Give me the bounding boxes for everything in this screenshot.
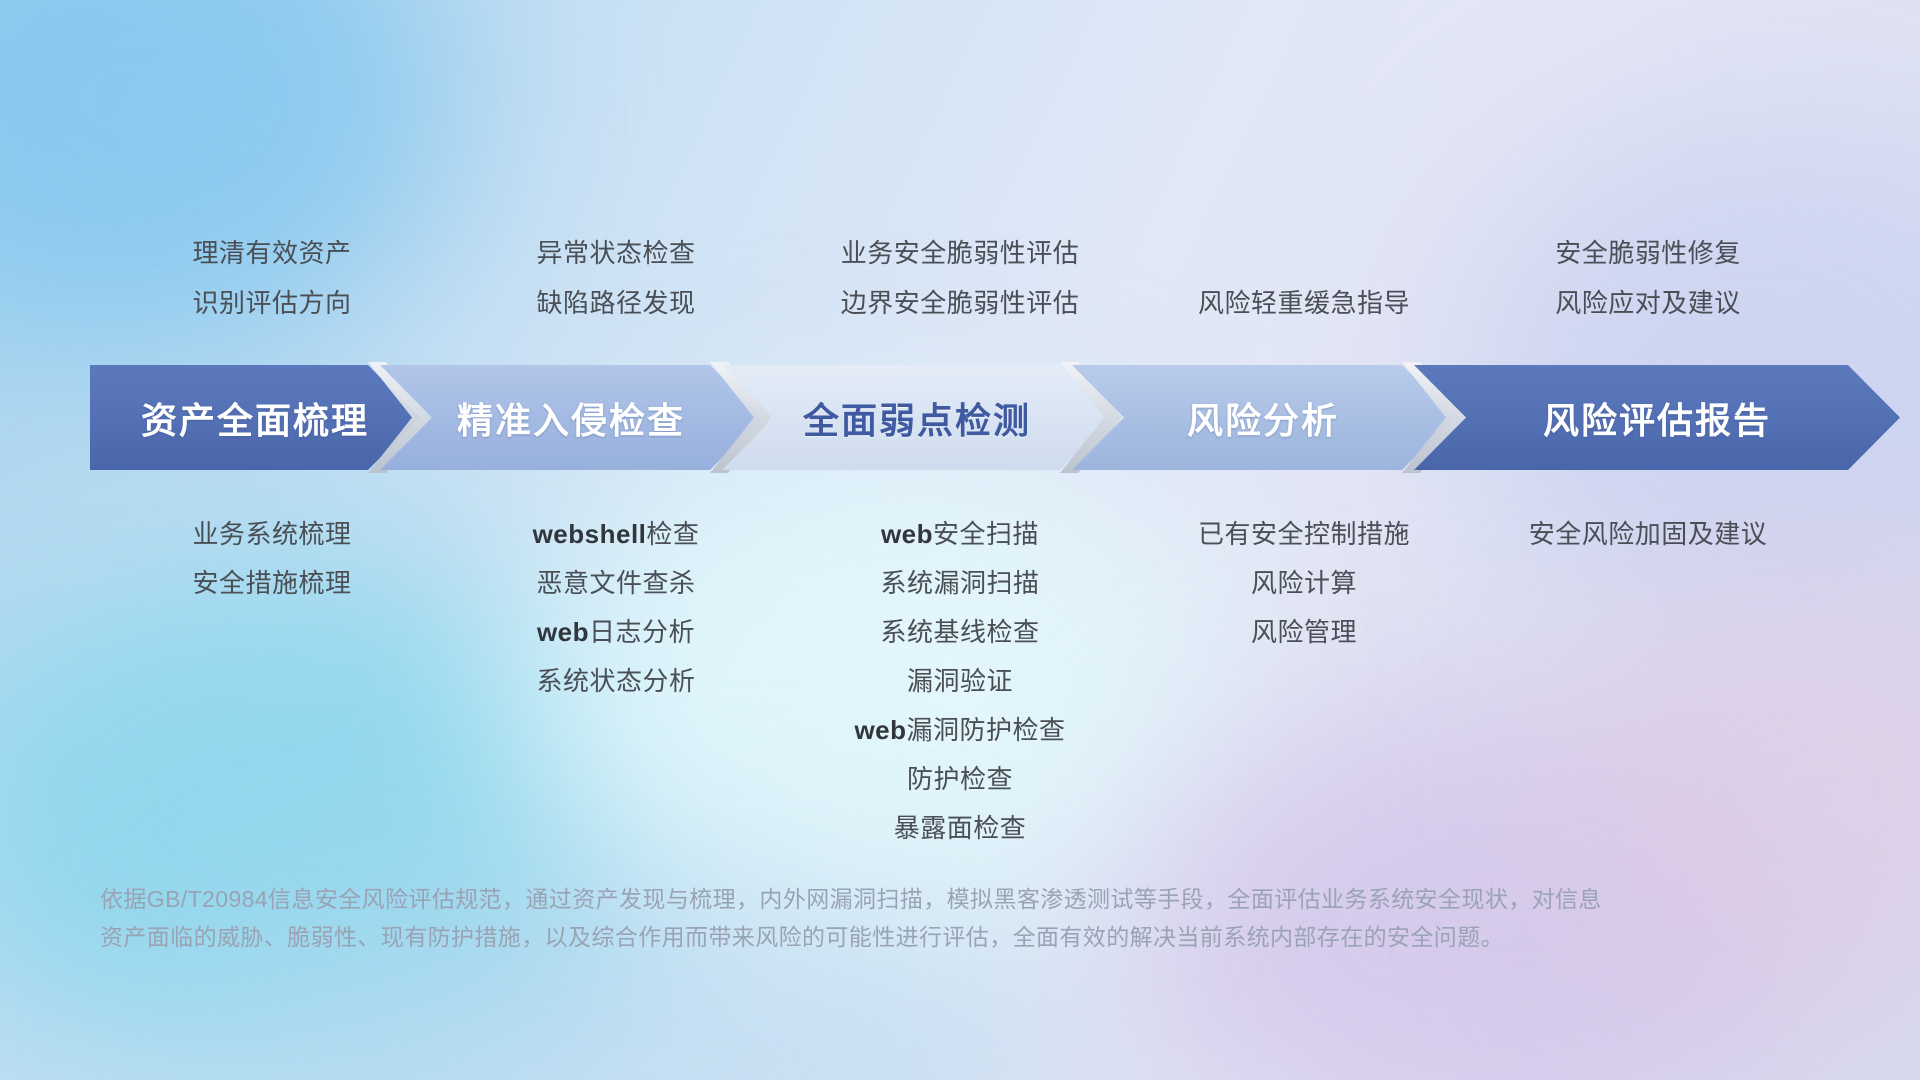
list-item: 防护检查 (788, 755, 1132, 804)
bottom-cell-stage-3: web安全扫描 系统漏洞扫描 系统基线检查 漏洞验证 web漏洞防护检查 防护检… (788, 510, 1132, 853)
list-item: 暴露面检查 (788, 804, 1132, 853)
chevron-label-stage-3: 全面弱点检测 (803, 392, 1031, 444)
top-item: 风险应对及建议 (1476, 278, 1820, 328)
process-diagram: 理清有效资产 识别评估方向 异常状态检查 缺陷路径发现 业务安全脆弱性评估 边界… (0, 0, 1920, 1080)
list-item: 恶意文件查杀 (444, 559, 788, 608)
chevron-label-stage-2: 精准入侵检查 (457, 392, 685, 444)
list-item: 已有安全控制措施 (1132, 510, 1476, 559)
top-item: 识别评估方向 (100, 278, 444, 328)
chevron-label-stage-5: 风险评估报告 (1543, 392, 1771, 444)
top-description-row: 理清有效资产 识别评估方向 异常状态检查 缺陷路径发现 业务安全脆弱性评估 边界… (100, 228, 1820, 328)
list-item: 漏洞验证 (788, 657, 1132, 706)
top-item: 安全脆弱性修复 (1476, 228, 1820, 278)
top-item: 理清有效资产 (100, 228, 444, 278)
top-item: 缺陷路径发现 (444, 278, 788, 328)
top-item: 异常状态检查 (444, 228, 788, 278)
list-item: web日志分析 (444, 608, 788, 657)
list-item: 业务系统梳理 (100, 510, 444, 559)
footer-line-1: 依据GB/T20984信息安全风险评估规范，通过资产发现与梳理，内外网漏洞扫描，… (100, 880, 1620, 918)
top-cell-stage-4: 风险轻重缓急指导 (1132, 228, 1476, 328)
chevron-stage-5[interactable]: 风险评估报告 (1414, 365, 1900, 470)
list-item: 安全风险加固及建议 (1476, 510, 1820, 559)
chevron-stage-2[interactable]: 精准入侵检查 (380, 365, 762, 470)
top-item: 业务安全脆弱性评估 (788, 228, 1132, 278)
chevron-stage-3[interactable]: 全面弱点检测 (722, 365, 1112, 470)
top-cell-stage-1: 理清有效资产 识别评估方向 (100, 228, 444, 328)
list-item: 风险计算 (1132, 559, 1476, 608)
top-cell-stage-2: 异常状态检查 缺陷路径发现 (444, 228, 788, 328)
bottom-cell-stage-1: 业务系统梳理 安全措施梳理 (100, 510, 444, 853)
chevron-label-stage-4: 风险分析 (1187, 392, 1339, 444)
bottom-cell-stage-2: webshell检查 恶意文件查杀 web日志分析 系统状态分析 (444, 510, 788, 853)
list-item: 系统基线检查 (788, 608, 1132, 657)
top-cell-stage-5: 安全脆弱性修复 风险应对及建议 (1476, 228, 1820, 328)
list-item: web漏洞防护检查 (788, 706, 1132, 755)
top-item: 边界安全脆弱性评估 (788, 278, 1132, 328)
list-item-suffix: 安全扫描 (933, 519, 1039, 549)
bottom-item-row: 业务系统梳理 安全措施梳理 webshell检查 恶意文件查杀 web日志分析 … (100, 510, 1820, 853)
list-item: 系统漏洞扫描 (788, 559, 1132, 608)
list-item: web安全扫描 (788, 510, 1132, 559)
chevron-label-stage-1: 资产全面梳理 (141, 392, 369, 444)
list-item: 风险管理 (1132, 608, 1476, 657)
footer-description: 依据GB/T20984信息安全风险评估规范，通过资产发现与梳理，内外网漏洞扫描，… (100, 880, 1620, 956)
chevron-band: 资产全面梳理 精准入侵检查 全面弱点检测 风险分析 风险评估报告 (90, 365, 1900, 470)
list-item-suffix: 检查 (646, 519, 699, 549)
list-item: 安全措施梳理 (100, 559, 444, 608)
top-cell-stage-3: 业务安全脆弱性评估 边界安全脆弱性评估 (788, 228, 1132, 328)
top-item: 风险轻重缓急指导 (1132, 278, 1476, 328)
list-item-suffix: 漏洞防护检查 (907, 715, 1066, 745)
list-item-suffix: 日志分析 (589, 617, 695, 647)
chevron-stage-1[interactable]: 资产全面梳理 (90, 365, 420, 470)
bottom-cell-stage-5: 安全风险加固及建议 (1476, 510, 1820, 853)
footer-line-2: 资产面临的威胁、脆弱性、现有防护措施，以及综合作用而带来风险的可能性进行评估，全… (100, 918, 1620, 956)
list-item: 系统状态分析 (444, 657, 788, 706)
bottom-cell-stage-4: 已有安全控制措施 风险计算 风险管理 (1132, 510, 1476, 853)
chevron-stage-4[interactable]: 风险分析 (1072, 365, 1454, 470)
list-item: webshell检查 (444, 510, 788, 559)
